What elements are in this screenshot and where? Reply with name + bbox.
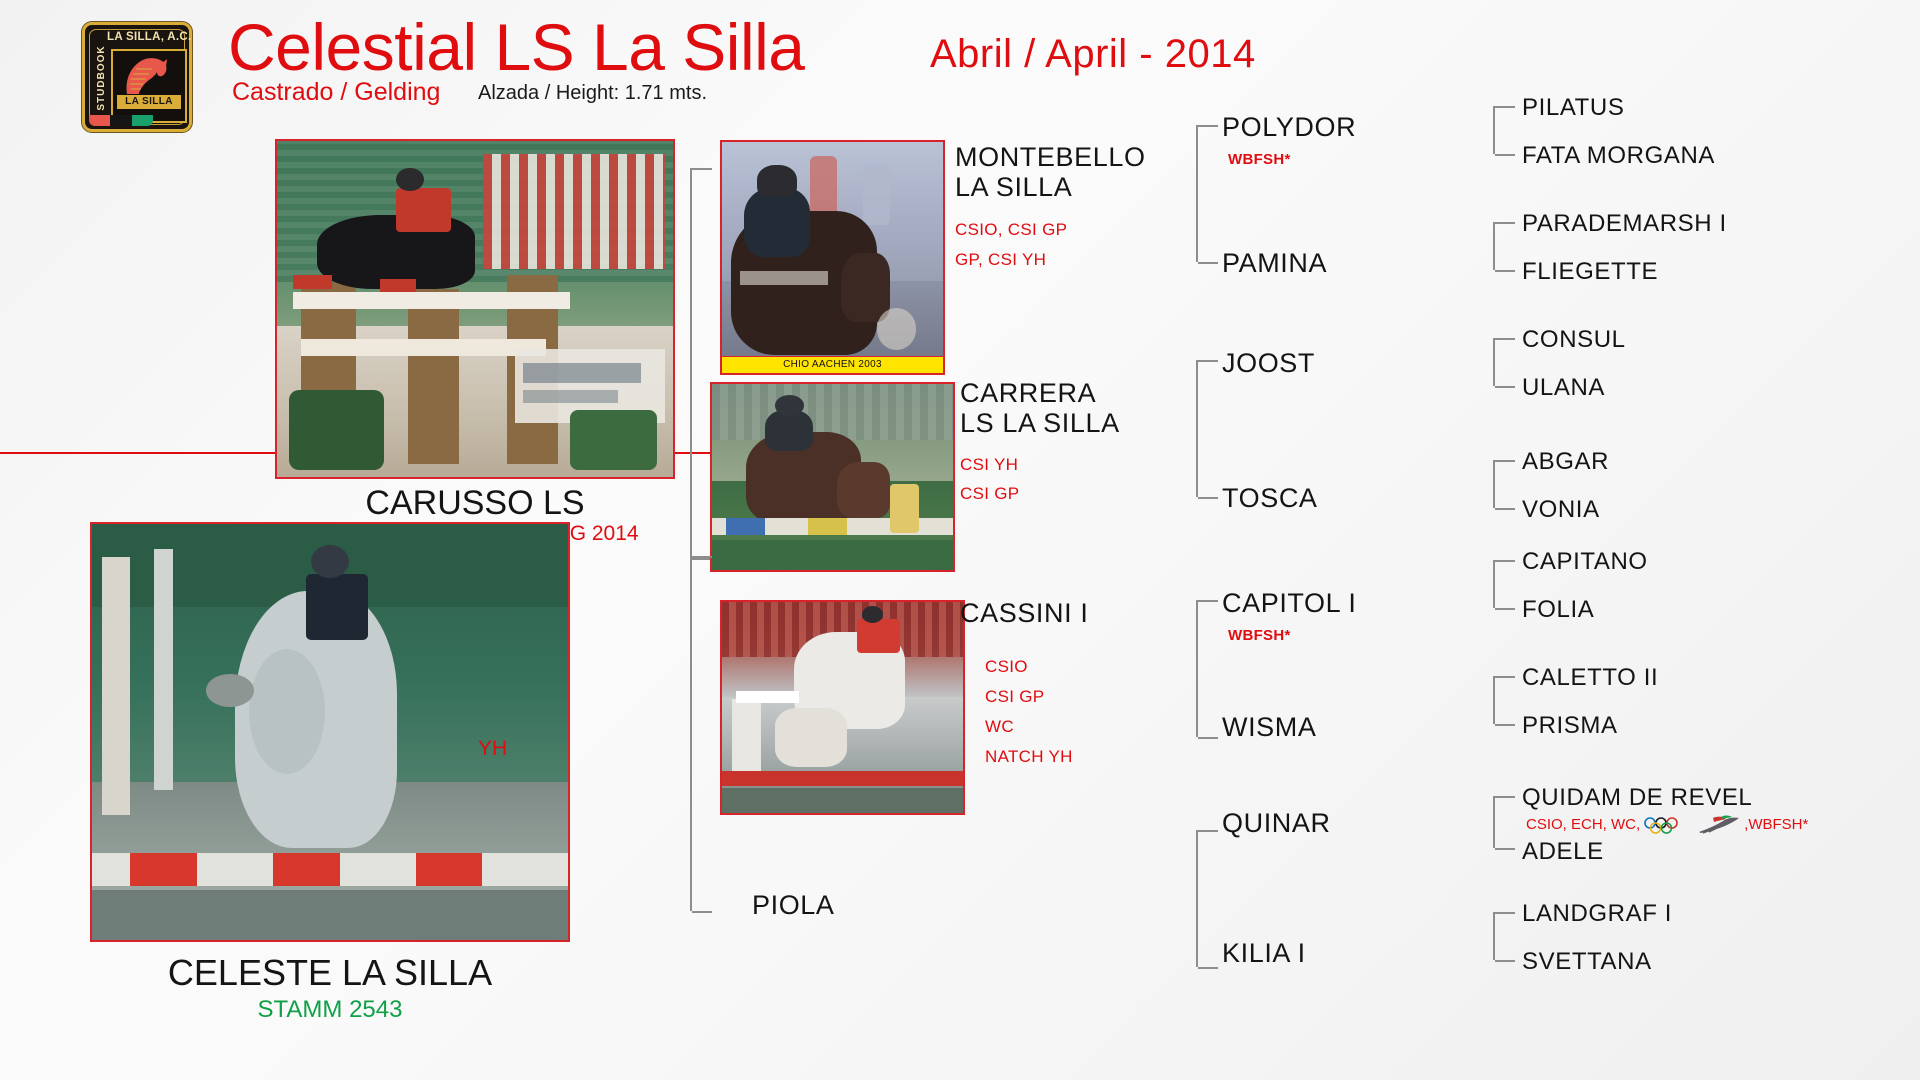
- gen2-name-carrera-line1: CARRERA: [960, 378, 1096, 408]
- gen3-name-polydor: POLYDOR: [1222, 112, 1356, 142]
- gen3-name-pamina: PAMINA: [1222, 248, 1327, 278]
- dam-note: YH: [478, 737, 507, 761]
- bracket-gen4-4: [1493, 460, 1495, 508]
- gen2-name-piola: PIOLA: [752, 890, 835, 920]
- gen4-name-landgraf-i: LANDGRAF I: [1522, 899, 1672, 929]
- gen4-ach-quidam-de-revel: CSIO, ECH, WC, ,WBFSH*: [1526, 815, 1808, 835]
- bracket-gen4-3: [1493, 338, 1495, 386]
- photo-cassini-i: [720, 600, 965, 815]
- gen4-name-consul: CONSUL: [1522, 325, 1626, 355]
- gen2-name-carrera-line2: LS LA SILLA: [960, 408, 1120, 438]
- photo-caption-montebello: CHIO AACHEN 2003: [722, 356, 943, 373]
- gen2-ach-cassini-line2: CSI GP: [985, 685, 1044, 709]
- height-label: Alzada / Height: 1.71 mts.: [478, 82, 707, 105]
- gen3-ach-capitol-i: WBFSH*: [1228, 624, 1291, 648]
- gen3-name-capitol-i: CAPITOL I: [1222, 588, 1356, 618]
- bracket-gen4-6: [1493, 676, 1495, 724]
- bracket-dam-gen2: [690, 556, 692, 911]
- date-label: Abril / April - 2014: [930, 32, 1256, 77]
- photo-carusso-ls: [275, 139, 675, 479]
- gen2-name-cassini: CASSINI I: [960, 598, 1088, 628]
- dam-stamm: STAMM 2543: [60, 996, 600, 1024]
- gen4-name-fata-morgana: FATA MORGANA: [1522, 141, 1715, 171]
- bracket-sire-gen2: [690, 168, 692, 558]
- gen3-name-quinar: QUINAR: [1222, 808, 1331, 838]
- page-title: Celestial LS La Silla: [228, 12, 804, 82]
- photo-montebello-la-silla: CHIO AACHEN 2003: [720, 140, 945, 375]
- sire-name: CARUSSO LS: [275, 484, 675, 523]
- photo-carrera-ls-la-silla: [710, 382, 955, 572]
- studbook-logo: LA SILLA, A.C. STUDBOOK LA SILLA: [82, 22, 192, 132]
- bracket-gen4-2: [1493, 222, 1495, 270]
- horse-rider-icon: [1697, 815, 1743, 835]
- bracket-gen4-1: [1493, 106, 1495, 154]
- gen3-ach-polydor: WBFSH*: [1228, 148, 1291, 172]
- gen4-name-vonia: VONIA: [1522, 495, 1600, 525]
- bracket-gen4-8: [1493, 912, 1495, 960]
- bracket-gen3-1: [1196, 125, 1198, 262]
- gen2-ach-cassini-line1: CSIO: [985, 655, 1028, 679]
- gen2-name-montebello-line2: LA SILLA: [955, 172, 1072, 202]
- gen4-name-folia: FOLIA: [1522, 595, 1594, 625]
- gen2-ach-carrera-line1: CSI YH: [960, 453, 1018, 477]
- gen4-name-fliegette: FLIEGETTE: [1522, 257, 1658, 287]
- gen2-ach-cassini-line4: NATCH YH: [985, 745, 1073, 769]
- bracket-gen3-3: [1196, 600, 1198, 737]
- bracket-gen3-4: [1196, 830, 1198, 967]
- gen4-ach-quidam-prefix: CSIO, ECH, WC,: [1526, 816, 1640, 833]
- logo-flag-stripes: [89, 115, 153, 126]
- gen2-ach-montebello-line1: CSIO, CSI GP: [955, 218, 1067, 242]
- logo-side-text: STUDBOOK: [95, 42, 109, 114]
- gen3-name-wisma: WISMA: [1222, 712, 1317, 742]
- gen4-name-adele: ADELE: [1522, 837, 1604, 867]
- gen2-ach-carrera-line2: CSI GP: [960, 482, 1019, 506]
- gen4-name-svettana: SVETTANA: [1522, 947, 1652, 977]
- bracket-gen3-2: [1196, 360, 1198, 497]
- logo-emblem-box: LA SILLA: [111, 49, 187, 123]
- sex-label: Castrado / Gelding: [232, 78, 440, 107]
- gen4-name-caletto-ii: CALETTO II: [1522, 663, 1658, 693]
- gen3-name-tosca: TOSCA: [1222, 483, 1318, 513]
- gen2-ach-cassini-line3: WC: [985, 715, 1014, 739]
- dam-name: CELESTE LA SILLA: [60, 952, 600, 994]
- photo-celeste-la-silla: [90, 522, 570, 942]
- gen4-ach-quidam-suffix: ,WBFSH*: [1744, 816, 1808, 833]
- horse-head-icon: [121, 56, 173, 96]
- gen2-ach-montebello-line2: GP, CSI YH: [955, 248, 1046, 272]
- gen2-name-montebello-line1: MONTEBELLO: [955, 142, 1146, 172]
- gen4-name-pilatus: PILATUS: [1522, 93, 1624, 123]
- bracket-gen4-7: [1493, 796, 1495, 848]
- olympic-rings-icon: [1642, 817, 1694, 834]
- bracket-gen4-5: [1493, 560, 1495, 608]
- gen4-name-abgar: ABGAR: [1522, 447, 1609, 477]
- logo-top-text: LA SILLA, A.C.: [107, 30, 185, 45]
- gen4-name-prisma: PRISMA: [1522, 711, 1618, 741]
- gen4-name-quidam-de-revel: QUIDAM DE REVEL: [1522, 783, 1752, 813]
- pedigree-chart: LA SILLA, A.C. STUDBOOK LA SILLA Celesti…: [0, 0, 1920, 1080]
- gen4-name-ulana: ULANA: [1522, 373, 1605, 403]
- logo-brand-text: LA SILLA: [117, 95, 181, 109]
- gen4-name-parademarsh-i: PARADEMARSH I: [1522, 209, 1727, 239]
- gen3-name-kilia-i: KILIA I: [1222, 938, 1306, 968]
- gen3-name-joost: JOOST: [1222, 348, 1315, 378]
- gen4-name-capitano: CAPITANO: [1522, 547, 1648, 577]
